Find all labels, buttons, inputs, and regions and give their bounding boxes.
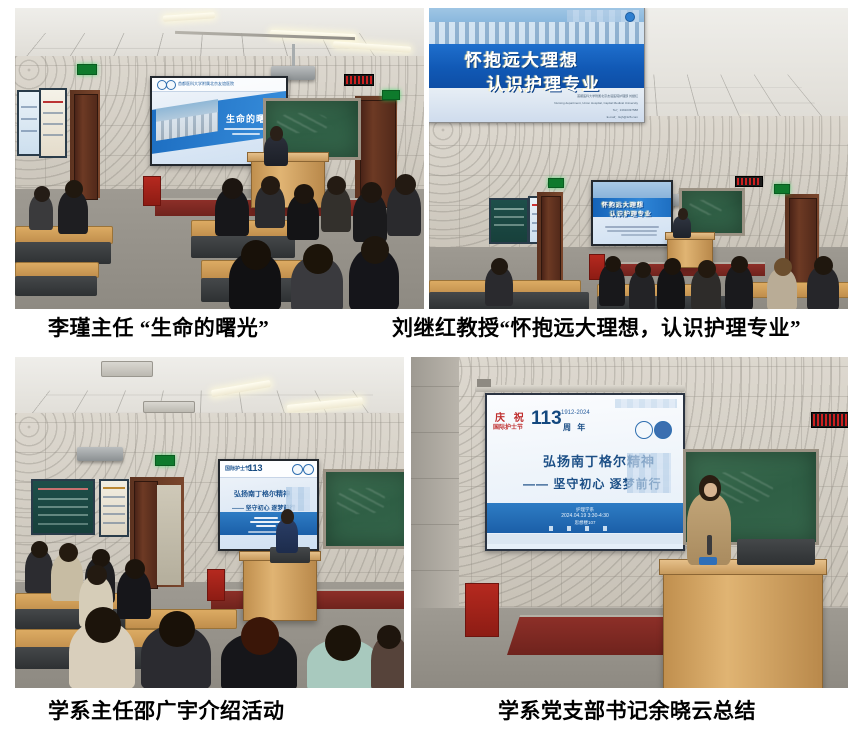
slide-anniversary-unit: 周 年 <box>563 422 587 433</box>
inset-title-line-1: 怀抱远大理想 <box>465 46 579 71</box>
led-display <box>344 74 374 86</box>
slide-title-line-1: 怀抱远大理想 <box>602 200 644 209</box>
door <box>541 196 561 286</box>
slide-header-text: 首都医科大学附属北京友谊医院 <box>178 81 234 87</box>
projector <box>77 447 123 461</box>
blackboard <box>323 469 404 549</box>
speaker <box>276 519 298 553</box>
led-display <box>811 412 848 428</box>
projection-screen: 怀抱远大理想 认识护理专业 <box>591 180 673 246</box>
exit-sign-icon <box>77 64 97 75</box>
projection-screen: 庆 祝 国际护士节 113 1912-2024 周 年 弘扬南丁格尔精神 —— … <box>485 393 685 551</box>
inset-credit-line-4: E-mail：liujh@126.com <box>607 115 638 119</box>
slide-festival-label: 国际护士节 <box>493 422 523 431</box>
exit-sign-icon <box>774 184 790 194</box>
wall-display <box>31 479 95 535</box>
slide-year-range: 1912-2024 <box>561 410 590 416</box>
inset-credit-line-3: Tel：13910337588 <box>613 108 638 112</box>
fire-extinguisher-box <box>143 176 161 206</box>
slide-title-line-2: 认识护理专业 <box>610 209 652 218</box>
wall-poster <box>17 90 41 156</box>
wall-display <box>489 198 529 244</box>
caption-photo-2: 刘继红教授“怀抱远大理想，认识护理专业” <box>392 317 801 340</box>
wall-poster <box>99 479 129 537</box>
slide-anniversary-number: 113 <box>531 408 562 430</box>
inset-slide-overlay: 怀抱远大理想 认识护理专业 首都医科大学附属北京友谊医院护理部 刘继红 Nurs… <box>429 8 645 123</box>
exit-sign-icon <box>548 178 564 188</box>
caption-photo-1: 李瑾主任 “生命的曙光” <box>48 317 269 340</box>
inset-credit-line-2: Nursing department, Union Hospital, Capi… <box>554 101 638 105</box>
slide-title: 弘扬南丁格尔精神 <box>234 489 290 499</box>
inset-credit-line-1: 首都医科大学附属北京友谊医院护理部 刘继红 <box>577 94 638 98</box>
fire-extinguisher-box <box>465 583 499 637</box>
podium <box>243 555 317 621</box>
photo-bottom-left: 国际护士节 113 弘扬南丁格尔精神 —— 坚守初心 逐梦前行 <box>15 357 404 688</box>
photo-bottom-right: 庆 祝 国际护士节 113 1912-2024 周 年 弘扬南丁格尔精神 —— … <box>411 357 848 688</box>
photo-top-left: 首都医科大学附属北京友谊医院 生命的曙光 <box>15 8 424 309</box>
caption-photo-4: 学系党支部书记余晓云总结 <box>498 700 756 723</box>
caption-photo-3: 学系主任邵广宇介绍活动 <box>48 700 285 723</box>
photo-collage-page: 首都医科大学附属北京友谊医院 生命的曙光 <box>0 0 859 740</box>
exit-sign-icon <box>155 455 175 466</box>
exit-sign-icon <box>382 90 400 100</box>
projection-screen: 国际护士节 113 弘扬南丁格尔精神 —— 坚守初心 逐梦前行 <box>218 459 319 551</box>
led-display <box>735 176 763 187</box>
inset-title-line-2: 认识护理专业 <box>487 70 601 95</box>
slide-footer-line-2: 2024.04.19 3:30-4:30 <box>487 513 683 519</box>
photo-top-right: 怀抱远大理想 认识护理专业 <box>429 8 848 309</box>
podium <box>663 569 823 688</box>
wall-poster <box>39 88 67 158</box>
fire-extinguisher-box <box>207 569 225 601</box>
